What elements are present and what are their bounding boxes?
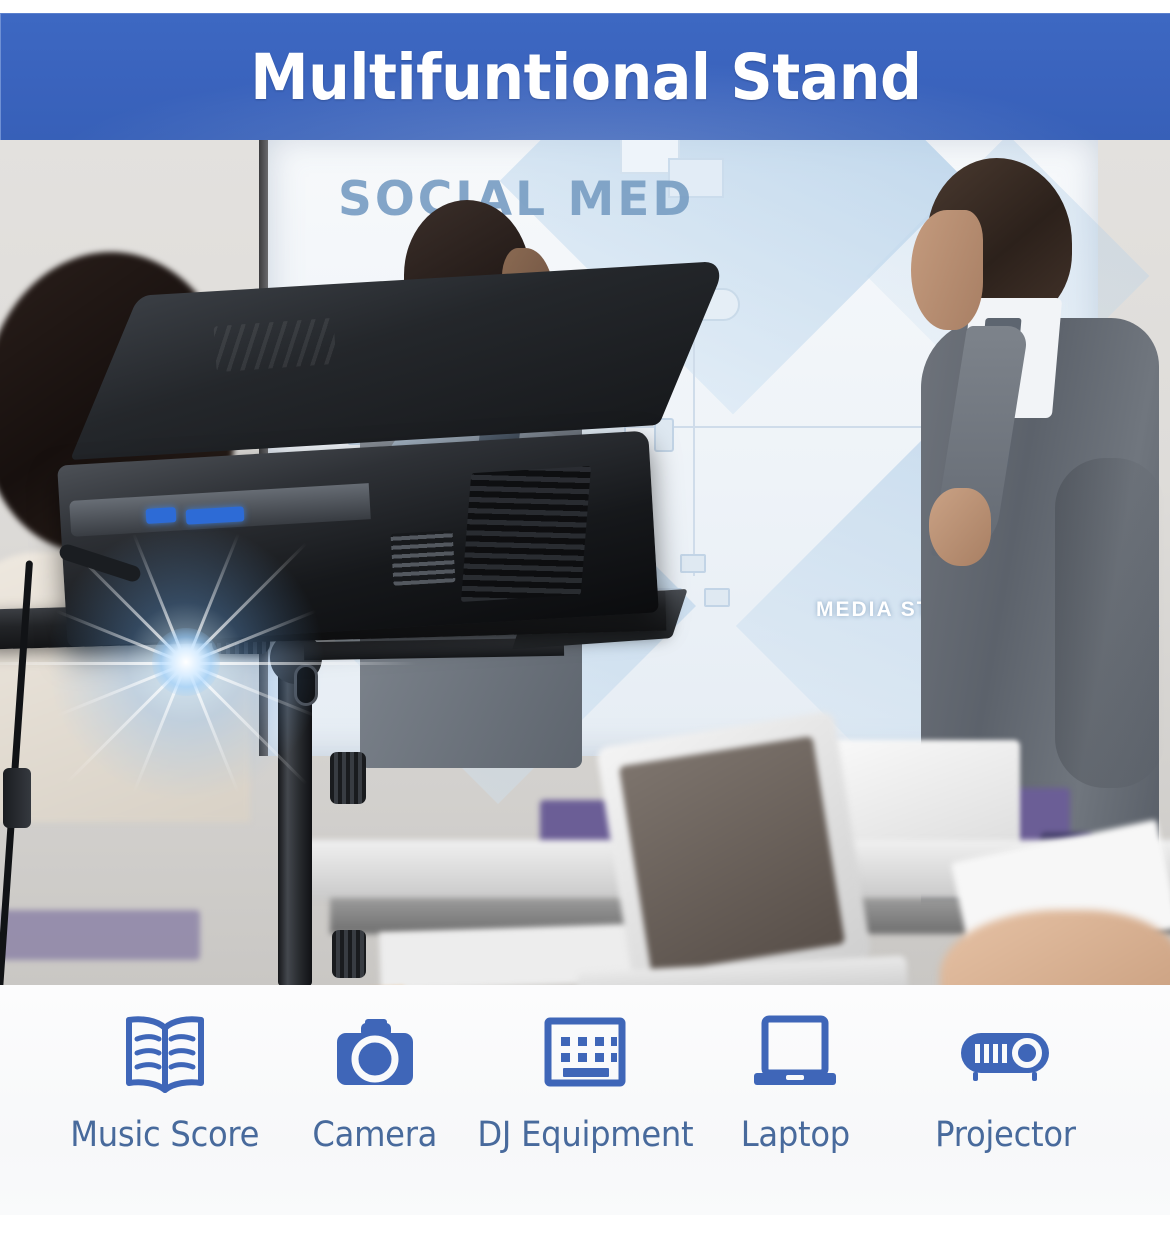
laptop-screen [619, 736, 845, 974]
bottom-margin [0, 1215, 1170, 1245]
foreground-laptop [588, 728, 918, 985]
projector-side-vent [461, 466, 591, 602]
product-image: Multifuntional Stand SOCIAL MED [0, 0, 1170, 1245]
projector-icon [955, 1005, 1055, 1101]
projector-exhaust-vent [391, 530, 456, 586]
chair [0, 910, 200, 960]
cable-ferrite-bead [3, 768, 31, 828]
product-photo: SOCIAL MED DATA SPEED MEDIA STR [0, 140, 1170, 985]
feature-item-music-score[interactable]: Music Score [60, 1005, 270, 1155]
page-title: Multifuntional Stand [250, 46, 921, 109]
feature-item-dj-equipment[interactable]: DJ Equipment [480, 1005, 690, 1155]
header-banner: Multifuntional Stand [0, 13, 1170, 140]
feature-strip: Music Score Camera [0, 985, 1170, 1215]
feature-item-projector[interactable]: Projector [900, 1005, 1110, 1155]
feature-label: Camera [313, 1115, 438, 1155]
feature-label: Laptop [740, 1115, 849, 1155]
feature-item-laptop[interactable]: Laptop [690, 1005, 900, 1155]
slide-device-icon [680, 554, 706, 573]
stand-lock-knob [332, 930, 366, 978]
face [911, 210, 983, 330]
dj-mixer-icon [539, 1005, 631, 1101]
camera-icon [329, 1005, 421, 1101]
stand-eyelet [294, 664, 318, 706]
laptop-icon [749, 1005, 841, 1101]
feature-label: Projector [935, 1115, 1076, 1155]
hand [929, 488, 991, 566]
projector-branding-emboss [214, 318, 337, 372]
feature-item-camera[interactable]: Camera [270, 1005, 480, 1155]
stand-lock-knob [330, 752, 366, 804]
feature-label: DJ Equipment [477, 1115, 693, 1155]
open-book-icon [119, 1005, 211, 1101]
slide-device-icon [704, 588, 730, 607]
projector-indicator-light [146, 507, 177, 524]
feature-label: Music Score [70, 1115, 259, 1155]
arm-shadow [1055, 458, 1165, 788]
